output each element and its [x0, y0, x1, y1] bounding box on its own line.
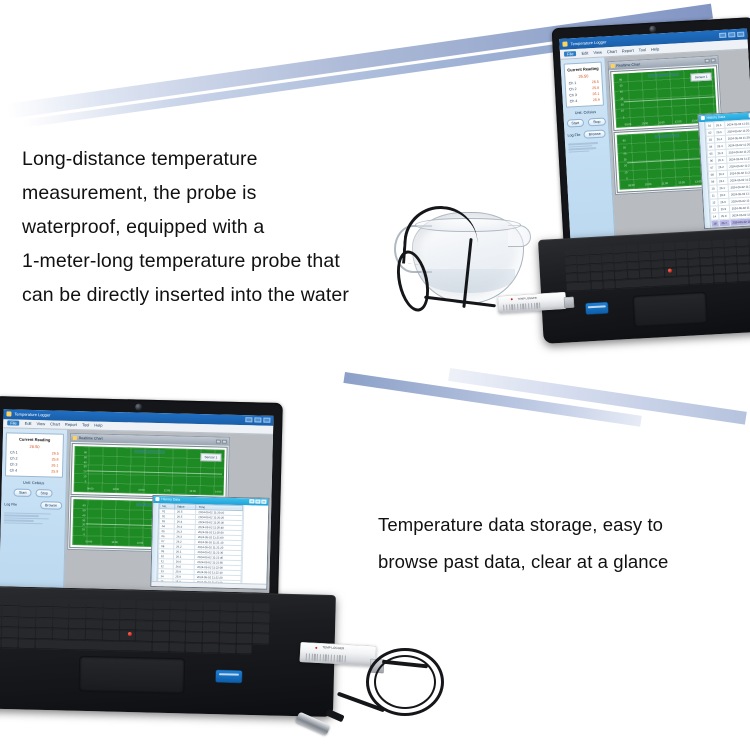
channel-value: 26.5: [52, 451, 59, 455]
menu-item-edit[interactable]: Edit: [581, 50, 588, 55]
maximize-icon[interactable]: [728, 32, 735, 37]
keyboard-bottom[interactable]: [0, 596, 270, 655]
x-tick: 13:00: [189, 491, 196, 494]
channel-value: 25.8: [52, 457, 59, 461]
channel-label: Ch 2: [10, 456, 18, 460]
trackpoint-nub-bottom[interactable]: [128, 632, 132, 636]
channel-label: Ch 3: [569, 93, 577, 97]
y-tick: 30: [84, 467, 87, 470]
window-controls[interactable]: [719, 32, 744, 38]
y-tick: 60: [619, 79, 622, 82]
probe-cable-loop-inner-bottom: [374, 655, 436, 709]
chart-window-title: Realtime Chart: [616, 62, 640, 67]
channel-row: Ch 1 26.5: [569, 80, 599, 86]
channel-row: Ch 4 25.9: [570, 98, 600, 104]
x-tick: 09:00: [625, 124, 632, 127]
log-line: [568, 150, 589, 153]
chart-window-controls[interactable]: [705, 58, 716, 63]
laptop-screen-top: Temperature Logger File Edit View Chart …: [559, 28, 750, 240]
menu-item-edit[interactable]: Edit: [25, 421, 32, 426]
capture-button-row: Start Stop: [4, 488, 62, 497]
menu-item-file[interactable]: File: [7, 421, 20, 426]
chart-title: Temperature Curve: [134, 449, 165, 454]
feature-text-top-line: can be directly inserted into the water: [22, 278, 349, 312]
usb-logger-device-bottom: TEMP LOGGER: [300, 642, 377, 666]
history-table-bottom[interactable]: No. Value Time 0126.52024-05-02 11:20:10…: [157, 503, 243, 590]
table-window-icon: [700, 116, 704, 120]
log-file-label: Log File: [568, 133, 581, 138]
maximize-icon[interactable]: [255, 500, 260, 504]
x-tick: 12:00: [675, 121, 682, 124]
cell-value: 25.7: [172, 589, 194, 590]
browse-button[interactable]: Browse: [40, 501, 62, 510]
y-tick: 50: [83, 510, 86, 513]
feature-text-bottom: Temperature data storage, easy to browse…: [378, 506, 668, 580]
capture-button-row: Start Stop: [567, 118, 605, 128]
unit-caption: Unit: Celsius: [5, 480, 63, 485]
laptop-lid-bottom: ThinkPad Temperature Logger File: [0, 396, 283, 603]
chart-window-title: Realtime Chart: [79, 436, 103, 441]
y-tick: 30: [82, 520, 85, 523]
channel-label: Ch 4: [10, 468, 18, 472]
cell-value: 25.7: [719, 220, 730, 228]
close-icon[interactable]: [222, 439, 227, 443]
y-tick: 0: [83, 535, 85, 538]
laptop-top-right: ThinkPad Temperature Logger File: [520, 18, 750, 348]
y-tick: 40: [84, 462, 87, 465]
y-tick: 60: [84, 452, 87, 455]
temperature-chart: Temperature Curve Sensor 1 60 50 40 30 2…: [71, 444, 226, 498]
chart-window-controls[interactable]: [216, 439, 227, 443]
menu-item-file[interactable]: File: [564, 51, 577, 57]
usb-device-label-bottom: TEMP LOGGER: [322, 646, 344, 651]
x-tick: 14:00: [215, 492, 222, 495]
intel-sticker-top: [586, 302, 609, 314]
cell-no: 17: [158, 589, 173, 590]
y-tick: 20: [621, 104, 624, 107]
x-tick: 10:00: [111, 542, 118, 545]
table-window-controls[interactable]: [249, 500, 266, 504]
minimize-icon[interactable]: [245, 418, 252, 423]
laptop-bottom-left: ThinkPad Temperature Logger File: [0, 388, 296, 718]
y-tick: 40: [82, 515, 85, 518]
laptop-lid-top: ThinkPad Temperature Logger File: [552, 17, 750, 250]
start-button[interactable]: Start: [566, 119, 584, 128]
table-window-title: History Data: [706, 115, 725, 120]
log-preview: [4, 512, 62, 525]
feature-text-top-line: 1-meter-long temperature probe that: [22, 244, 349, 278]
x-tick: 10:00: [645, 184, 652, 187]
y-tick: 0: [85, 481, 87, 484]
channel-value: 25.9: [593, 98, 600, 102]
channel-row: Ch 3 26.1: [10, 462, 59, 467]
chart-y-axis: 60 50 40 30 20 10 0: [74, 505, 85, 537]
reading-card-title: Current Reading: [19, 436, 50, 442]
y-tick: 20: [83, 472, 86, 475]
feature-text-top-line: measurement, the probe is: [22, 176, 349, 210]
reading-card: Current Reading 26.50 Ch 1 26.5 Ch 2 25.…: [564, 62, 605, 108]
x-tick: 10:00: [641, 123, 648, 126]
chart-window-icon: [610, 64, 614, 68]
close-icon[interactable]: [261, 500, 266, 504]
app-system-icon: [562, 42, 567, 47]
x-tick: 11:00: [137, 543, 143, 546]
y-tick: 50: [84, 457, 87, 460]
history-table-top[interactable]: 0126.52024-05-02 11:20:100226.52024-05-0…: [705, 118, 750, 228]
close-icon[interactable]: [263, 418, 270, 423]
table-scroll-area[interactable]: 0126.52024-05-02 11:20:100226.52024-05-0…: [699, 118, 750, 228]
maximize-icon[interactable]: [254, 418, 261, 423]
menu-item-report[interactable]: Report: [65, 422, 77, 427]
table-body-bottom: 0126.52024-05-02 11:20:100226.52024-05-0…: [157, 509, 242, 590]
laptop-base-top: [538, 227, 750, 344]
y-tick: 0: [623, 117, 625, 120]
x-tick: 10:00: [113, 489, 120, 492]
window-controls[interactable]: [245, 418, 270, 424]
stop-button[interactable]: Stop: [35, 489, 53, 497]
x-tick: 09:00: [86, 542, 93, 545]
history-table-window-bottom: History Data: [150, 495, 269, 590]
logger-app-window-top: Temperature Logger File Edit View Chart …: [559, 28, 750, 240]
channel-row: Ch 1 26.5: [10, 450, 59, 455]
probe-boot-bottom: [325, 709, 344, 723]
channel-row: Ch 4 25.9: [10, 468, 59, 473]
webcam-icon: [135, 403, 142, 410]
mdi-workspace: Realtime Chart: [605, 50, 750, 238]
y-tick: 10: [82, 530, 85, 533]
menu-item-chart[interactable]: Chart: [607, 49, 617, 55]
x-tick: 09:00: [87, 489, 94, 492]
table-empty-space: [241, 505, 268, 584]
chart-y-axis: 60 50 40 30 20 10 0: [76, 452, 87, 484]
log-line: [4, 519, 34, 521]
browse-button[interactable]: Browse: [584, 130, 606, 139]
feature-text-bottom-line: Temperature data storage, easy to: [378, 506, 668, 543]
channel-row: Ch 2 25.8: [10, 456, 59, 461]
stop-button[interactable]: Stop: [588, 118, 606, 127]
app-body: Current Reading 26.50 Ch 1 26.5 Ch 2 25.…: [560, 50, 750, 241]
log-line: [4, 514, 39, 516]
feature-text-bottom-line: browse past data, clear at a glance: [378, 543, 668, 580]
app-title-text: Temperature Logger: [570, 39, 606, 46]
menu-item-tool[interactable]: Tool: [82, 422, 89, 427]
table-body-top: 0126.52024-05-02 11:20:100226.52024-05-0…: [705, 119, 750, 228]
cell-time: 2024-05-02 11:23:00: [730, 217, 750, 226]
channel-label: Ch 4: [570, 99, 578, 103]
menu-item-chart[interactable]: Chart: [50, 422, 60, 427]
channel-value: 25.8: [592, 86, 599, 90]
log-preview: [568, 142, 607, 153]
table-row[interactable]: 1725.72024-05-02 11:22:50: [158, 589, 241, 590]
chart-legend: Sensor 1: [691, 72, 712, 81]
x-tick: 12:00: [678, 182, 685, 185]
channel-row: Ch 2 25.8: [569, 86, 599, 92]
usb-vent-grille-bottom: [306, 653, 346, 662]
history-table-window-top: History Data 0126.52024-05-0: [697, 110, 750, 229]
log-file-row: Log File Browse: [4, 500, 62, 509]
channel-value: 26.1: [592, 92, 599, 96]
x-tick: 11:00: [658, 122, 664, 125]
app-title-text: Temperature Logger: [14, 412, 50, 418]
touchpad-bottom[interactable]: [79, 657, 184, 694]
app-body: Current Reading 26.50 Ch 1 26.5 Ch 2 25.…: [0, 428, 273, 593]
y-tick: 50: [623, 147, 626, 150]
y-tick: 0: [626, 178, 628, 181]
y-tick: 40: [620, 92, 623, 95]
y-tick: 10: [83, 477, 86, 480]
channel-value: 26.1: [51, 463, 58, 467]
table-window-icon: [155, 497, 159, 501]
y-tick: 60: [623, 141, 626, 144]
x-tick: 12:00: [164, 490, 171, 493]
reading-card-title: Current Reading: [567, 66, 599, 73]
close-icon[interactable]: [737, 32, 744, 37]
y-tick: 50: [620, 86, 623, 89]
log-line: [4, 522, 43, 524]
log-file-label: Log File: [4, 502, 17, 506]
control-sidebar: Current Reading 26.50 Ch 1 26.5 Ch 2 25.…: [0, 428, 68, 588]
start-button[interactable]: Start: [14, 488, 32, 496]
channel-value: 26.5: [592, 80, 599, 84]
x-tick: 11:00: [138, 490, 144, 493]
channel-row: Ch 3 26.1: [569, 92, 599, 98]
y-tick: 30: [620, 98, 623, 101]
menu-item-help[interactable]: Help: [651, 47, 660, 52]
touchpad-top[interactable]: [633, 293, 707, 327]
feature-text-top: Long-distance temperature measurement, t…: [22, 142, 349, 312]
x-tick: 11:00: [662, 183, 668, 186]
y-tick: 10: [621, 111, 624, 114]
reading-card-value: 26.50: [30, 444, 40, 449]
product-image-canvas: ThinkPad Temperature Logger File: [0, 0, 750, 750]
menu-item-view[interactable]: View: [593, 50, 602, 55]
minimize-icon[interactable]: [216, 439, 221, 443]
table-scroll-area[interactable]: No. Value Time 0126.52024-05-02 11:20:10…: [151, 503, 268, 584]
minimize-icon[interactable]: [249, 500, 254, 504]
minimize-icon[interactable]: [719, 33, 726, 38]
reading-card-value: 26.50: [578, 74, 588, 80]
channel-label: Ch 2: [569, 87, 577, 91]
y-tick: 30: [624, 159, 627, 162]
channel-label: Ch 3: [10, 462, 18, 466]
x-tick: 09:00: [628, 185, 635, 188]
intel-sticker-bottom: [216, 670, 242, 683]
app-system-icon: [6, 412, 11, 417]
channel-label: Ch 1: [569, 81, 577, 85]
feature-text-top-line: waterproof, equipped with a: [22, 210, 349, 244]
usb-plug-top: [564, 297, 575, 309]
y-tick: 20: [624, 166, 627, 169]
table-window-title: History Data: [161, 498, 180, 502]
reading-card: Current Reading 26.50 Ch 1 26.5 Ch 2 25.…: [5, 432, 64, 477]
log-file-row: Log File Browse: [567, 130, 605, 140]
logger-app-window-bottom: Temperature Logger File Edit View Chart …: [0, 409, 273, 593]
status-led-bottom: [315, 647, 317, 649]
unit-caption: Unit: Celsius: [566, 110, 604, 116]
y-tick: 40: [623, 153, 626, 156]
menu-item-tool[interactable]: Tool: [639, 47, 647, 52]
y-tick: 20: [82, 525, 85, 528]
laptop-screen-bottom: Temperature Logger File Edit View Chart …: [0, 409, 273, 593]
channel-value: 25.9: [51, 469, 58, 473]
laptop-base-bottom: [0, 586, 336, 717]
chart-legend: Sensor 1: [200, 453, 221, 462]
y-tick: 60: [83, 505, 86, 508]
y-tick: 10: [624, 172, 627, 175]
menu-item-help[interactable]: Help: [94, 423, 102, 428]
mdi-workspace: Realtime Chart: [64, 429, 273, 592]
chart-window-icon: [73, 436, 77, 440]
close-icon[interactable]: [711, 58, 716, 62]
feature-text-top-line: Long-distance temperature: [22, 142, 349, 176]
menu-item-view[interactable]: View: [37, 421, 46, 426]
menu-item-report[interactable]: Report: [622, 48, 634, 54]
webcam-icon: [649, 26, 656, 33]
channel-label: Ch 1: [10, 450, 18, 454]
minimize-icon[interactable]: [705, 58, 710, 62]
